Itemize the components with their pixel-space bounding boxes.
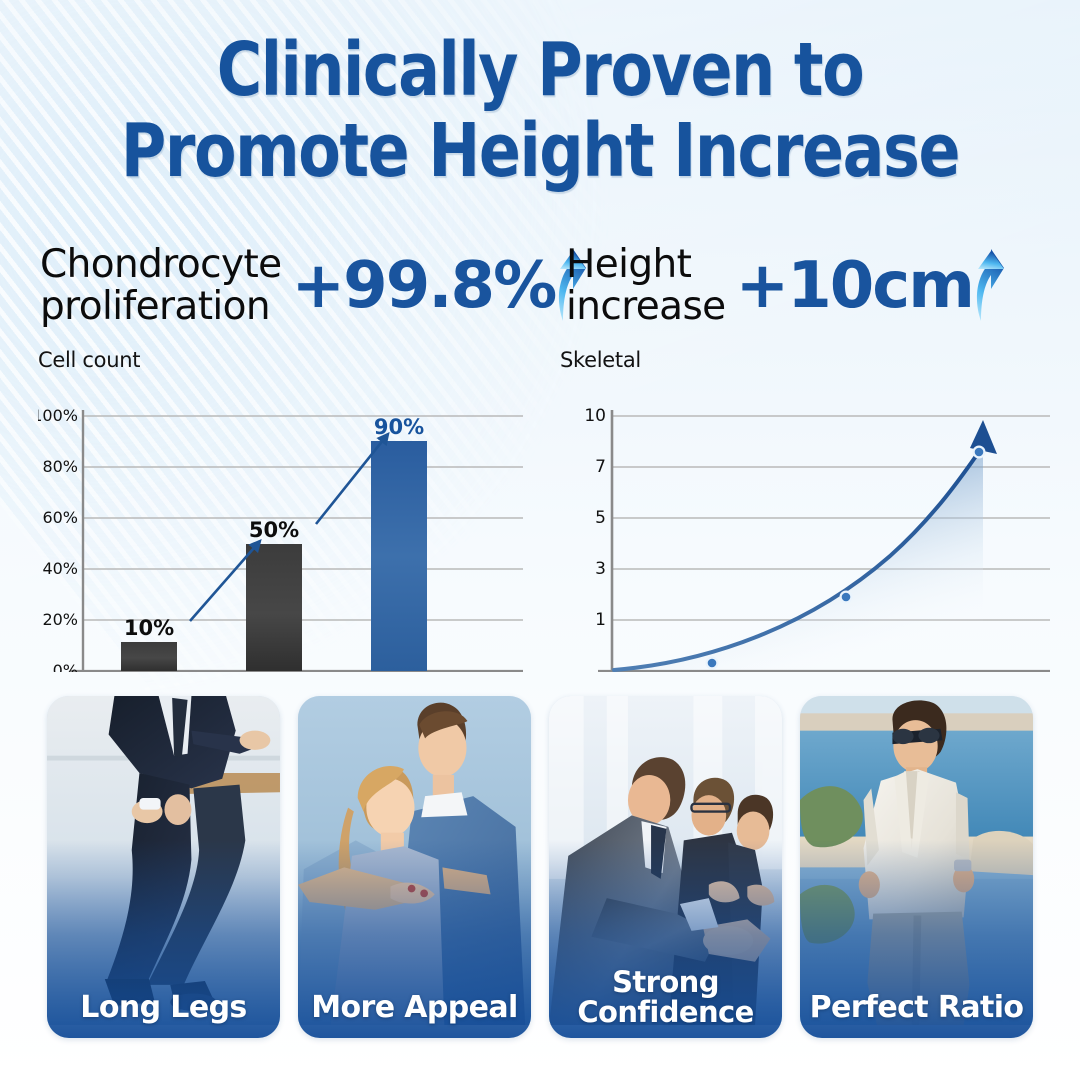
benefit-card-more-appeal[interactable]: More Appeal [298,696,531,1038]
y-tick-label: 10 [584,406,606,426]
bar-data-label: 10% [124,616,174,640]
stat-label-line-2: proliferation [40,284,270,329]
bar-month-1 [121,642,177,671]
page-title: Clinically Proven to Promote Height Incr… [38,34,1042,187]
y-tick-label: 80% [42,457,78,476]
bar-chart-cell-count: Cell count [38,348,538,670]
y-tick-label: 100% [38,406,78,425]
card-caption-line-2: Confidence [577,995,753,1029]
data-point [707,658,718,669]
chart-title: Cell count [38,348,538,372]
y-axis-tick-labels: 1 3 5 7 10 [584,406,606,630]
bar-data-label: 90% [374,415,424,439]
benefit-card-perfect-ratio[interactable]: Perfect Ratio [800,696,1033,1038]
page-title-line-1: Clinically Proven to [217,27,864,113]
card-caption: Long Legs [47,992,280,1024]
card-caption: Perfect Ratio [800,992,1033,1024]
stat-label-line-2: increase [566,284,726,329]
stat-label-line-1: Height [566,242,691,287]
line-chart-skeletal: Skeletal 1 3 5 7 10 [560,348,1060,670]
chart-title: Skeletal [560,348,1060,372]
stat-height-increase: Height increase +10cm [566,244,1080,327]
y-tick-label: 40% [42,559,78,578]
stats-row: Chondrocyte proliferation +99.8% Height … [0,232,1080,340]
benefit-card-strong-confidence[interactable]: Strong Confidence [549,696,782,1038]
up-arrow-icon [971,249,1011,323]
stat-chondrocyte-proliferation: Chondrocyte proliferation +99.8% [0,244,566,327]
benefit-card-row: Long Legs [47,696,1033,1038]
y-tick-label: 20% [42,610,78,629]
data-point [841,592,852,603]
card-caption: More Appeal [298,992,531,1024]
y-tick-label: 7 [595,457,606,477]
stat-value: +10cm [736,249,973,323]
y-tick-label: 60% [42,508,78,527]
bar-month-2 [246,544,302,671]
stat-label-line-1: Chondrocyte [40,242,282,287]
y-tick-label: 3 [595,559,606,579]
y-axis-tick-labels: 0% 20% 40% 60% 80% 100% [38,406,78,672]
stat-value: +99.8% [292,249,556,323]
benefit-card-long-legs[interactable]: Long Legs [47,696,280,1038]
data-point [974,447,985,458]
card-caption: Strong Confidence [549,967,782,1028]
stat-label: Height increase [566,244,726,327]
page-title-line-2: Promote Height Increase [38,115,1042,188]
area-fill [614,446,983,670]
bar-data-label: 50% [249,518,299,542]
y-tick-label: 5 [595,508,606,528]
bar-month-3 [371,441,427,671]
y-tick-label: 1 [595,610,606,630]
card-caption-line-1: Strong [612,965,719,999]
y-tick-label: 0% [53,661,78,672]
stat-label: Chondrocyte proliferation [40,244,282,327]
